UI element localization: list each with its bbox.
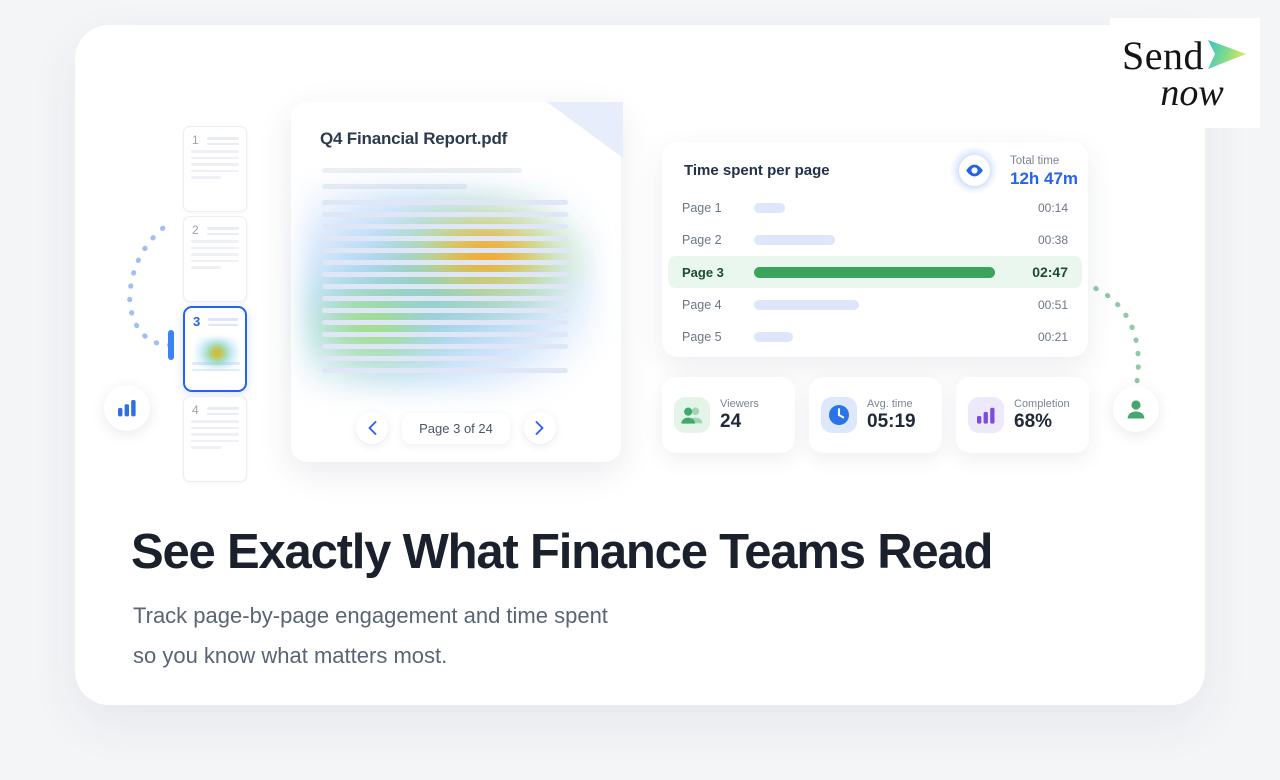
stat-card-viewers[interactable]: Viewers 24 [662,377,795,453]
row-page-label: Page 3 [682,265,754,280]
clock-icon [827,403,851,427]
row-time-value: 00:38 [1016,233,1068,247]
stat-text-completion: Completion 68% [1014,398,1070,433]
row-bar-track [754,300,1016,310]
stat-label: Avg. time [867,398,916,410]
prev-page-button[interactable] [356,412,388,444]
eye-icon [965,164,984,177]
row-time-value: 00:51 [1016,298,1068,312]
bar-chart-icon [117,399,137,417]
subtitle-line-1: Track page-by-page engagement and time s… [133,596,608,636]
page-title: See Exactly What Finance Teams Read [131,524,992,580]
row-page-label: Page 2 [682,233,754,247]
document-corner-fold-icon [545,100,625,162]
person-icon [1125,398,1147,420]
row-time-value: 02:47 [1016,264,1068,280]
active-page-indicator [168,330,174,360]
table-row[interactable]: Page 5 00:21 [668,321,1082,352]
thumbnail-header-lines [207,227,239,235]
table-row[interactable]: Page 4 00:51 [668,289,1082,320]
stat-text-avg-time: Avg. time 05:19 [867,398,916,433]
page-thumbnail-2[interactable]: 2 [183,216,247,302]
thumbnail-number: 4 [192,403,199,417]
thumbnail-number: 1 [192,133,199,147]
next-page-button[interactable] [524,412,556,444]
page-thumbnail-3[interactable]: 3 [183,306,247,392]
page-time-rows: Page 1 00:14 Page 2 00:38 Page 3 02:47 P… [668,192,1082,353]
row-bar [754,203,785,213]
eye-circle [959,155,990,186]
play-arrow-icon [1206,38,1248,72]
document-text-lines [322,200,584,395]
bar-chart-icon [976,407,996,424]
page-thumbnail-4[interactable]: 4 [183,396,247,482]
row-bar-track [754,203,1016,213]
bar-chart-icon-wrap [968,397,1004,433]
people-icon-wrap [674,397,710,433]
thumbnail-body-lines [191,420,239,449]
chevron-right-icon [535,421,544,435]
thumbnail-number: 2 [192,223,199,237]
row-bar-track [754,267,1016,277]
row-bar-track [754,235,1016,245]
stat-cards: Viewers 24 Avg. time 05:19 Completion 68… [662,377,1089,453]
table-row[interactable]: Page 2 00:38 [668,224,1082,255]
viewer-badge[interactable] [1113,386,1159,432]
document-title: Q4 Financial Report.pdf [320,129,507,149]
total-time-block: Total time 12h 47m [1010,155,1078,189]
row-page-label: Page 5 [682,330,754,344]
stat-label: Completion [1014,398,1070,410]
thumbnail-header-lines [207,137,239,145]
eye-badge [950,146,998,194]
subtitle-line-2: so you know what matters most. [133,636,608,676]
total-time-label: Total time [1010,155,1078,167]
people-icon [681,406,703,424]
thumbnail-body-lines [191,150,239,179]
row-page-label: Page 1 [682,201,754,215]
row-page-label: Page 4 [682,298,754,312]
analytics-badge[interactable] [104,385,150,431]
stat-card-completion[interactable]: Completion 68% [956,377,1089,453]
total-time-value: 12h 47m [1010,169,1078,189]
chevron-left-icon [368,421,377,435]
stat-text-viewers: Viewers 24 [720,398,759,433]
brand-logo[interactable]: Send now [1110,18,1260,128]
table-row-highlighted[interactable]: Page 3 02:47 [668,256,1082,288]
row-time-value: 00:21 [1016,330,1068,344]
row-bar [754,235,835,245]
stat-label: Viewers [720,398,759,410]
row-time-value: 00:14 [1016,201,1068,215]
page-subtitle: Track page-by-page engagement and time s… [133,596,608,676]
table-row[interactable]: Page 1 00:14 [668,192,1082,223]
thumbnail-body-lines [191,240,239,269]
stat-value: 05:19 [867,411,916,433]
row-bar-track [754,332,1016,342]
row-bar [754,267,995,278]
stat-value: 24 [720,411,759,433]
thumbnail-header-lines [208,318,238,326]
clock-icon-wrap [821,397,857,433]
stat-card-avg-time[interactable]: Avg. time 05:19 [809,377,942,453]
thumbnail-header-lines [207,407,239,415]
row-bar [754,332,793,342]
document-pager: Page 3 of 24 [291,412,621,444]
thumbnail-heatmap-icon [195,338,239,368]
thumbnail-number: 3 [193,314,200,329]
time-spent-title: Time spent per page [684,162,830,179]
logo-text-now: now [1160,71,1223,115]
row-bar [754,300,859,310]
page-indicator-label: Page 3 of 24 [402,413,510,444]
stat-value: 68% [1014,411,1070,433]
page-thumbnail-1[interactable]: 1 [183,126,247,212]
page-thumbnail-rail: 1 2 3 4 [183,126,247,486]
